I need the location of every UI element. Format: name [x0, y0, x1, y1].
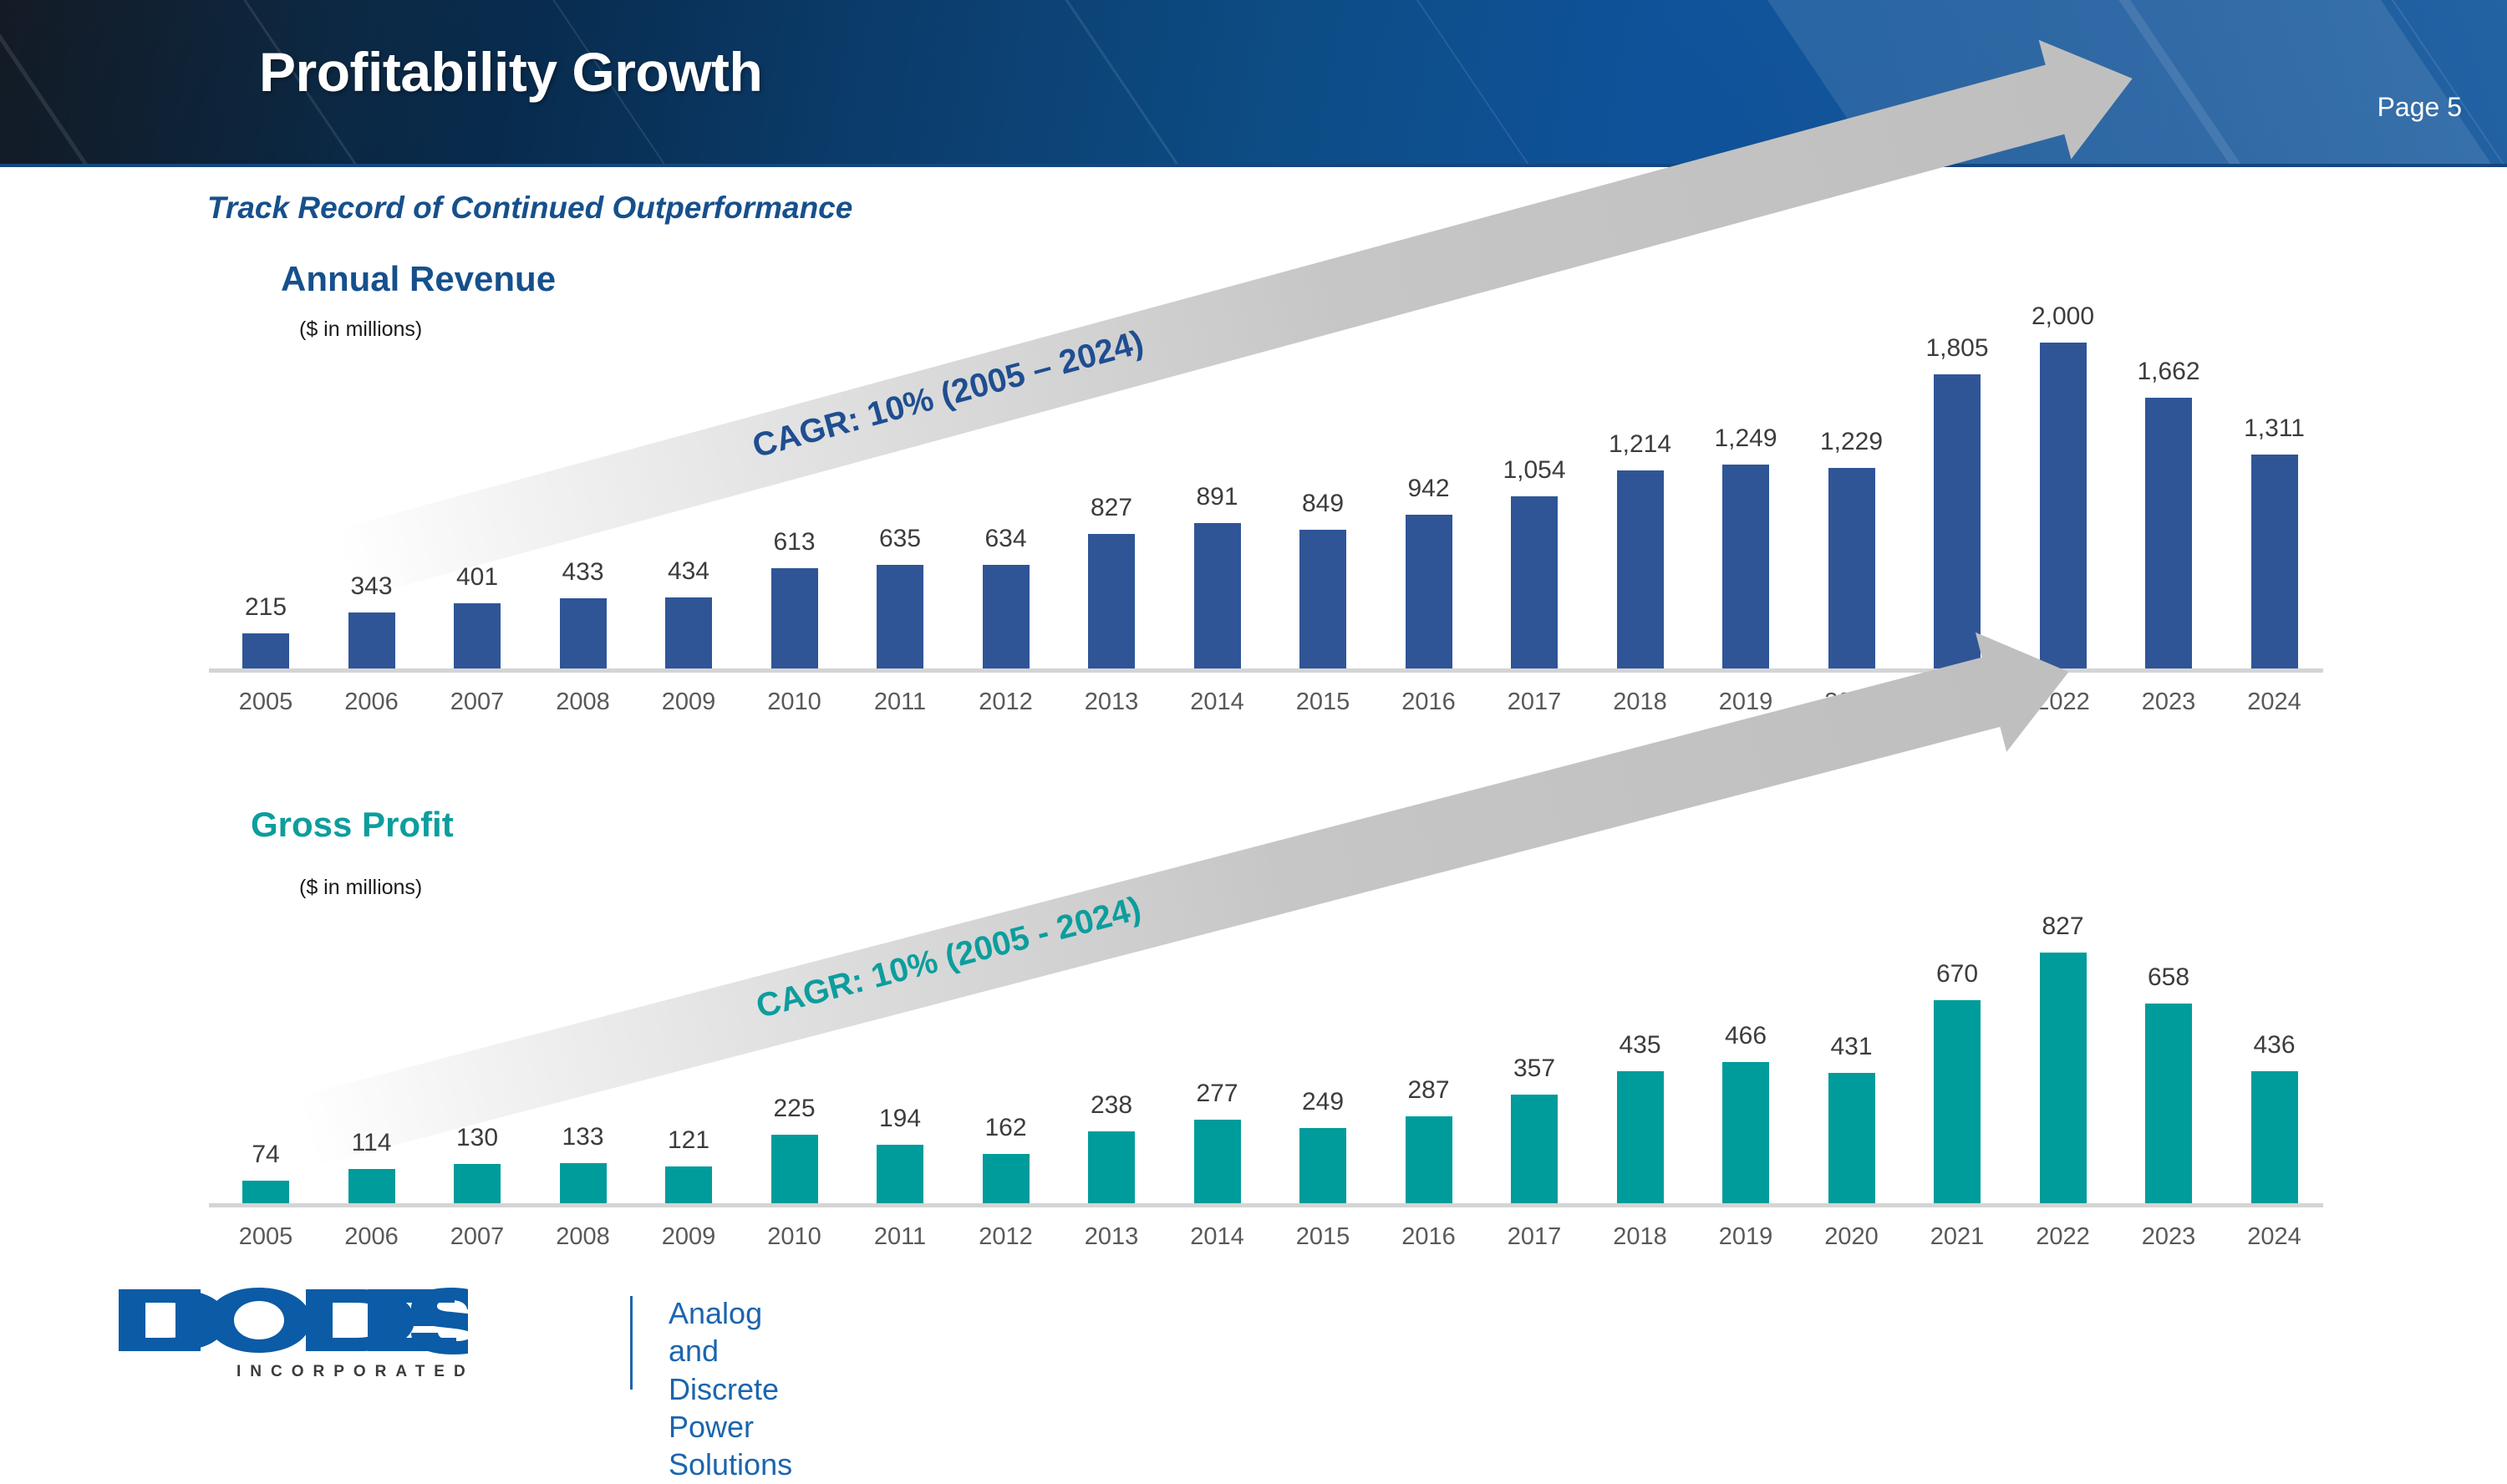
bar-value-label: 827 [1980, 912, 2147, 941]
bar-value-label: 431 [1768, 1033, 1935, 1061]
bar [771, 1135, 818, 1203]
company-tagline: Analog and Discrete Power Solutions [669, 1294, 792, 1484]
bar [1406, 1116, 1452, 1203]
bar-group: 466 [1722, 1062, 1769, 1203]
bar-group: 658 [2145, 1004, 2192, 1203]
bar-group: 827 [2040, 953, 2087, 1203]
bar [665, 1166, 712, 1203]
bar [877, 1145, 923, 1203]
plot-area: 7420051142006130200713320081212009225201… [209, 902, 2398, 1203]
diodes-logo: INCORPORATED Analog and Discrete Power S… [117, 1286, 468, 1351]
bar-group: 435 [1617, 1071, 1664, 1203]
bar-group: 670 [1934, 1000, 1981, 1203]
bar [2145, 1004, 2192, 1203]
bar-group: 114 [348, 1169, 395, 1203]
slide-footer: INCORPORATED Analog and Discrete Power S… [0, 1276, 2507, 1410]
bar-value-label: 121 [605, 1126, 772, 1155]
bar [348, 1169, 395, 1203]
bar-value-label: 436 [2191, 1031, 2358, 1060]
bar-group: 74 [242, 1181, 289, 1203]
bar [560, 1163, 607, 1203]
bar-group: 287 [1406, 1116, 1452, 1203]
diodes-wordmark [117, 1286, 468, 1351]
chart-axis-line [209, 1203, 2323, 1207]
bar-group: 133 [560, 1163, 607, 1203]
bar-group: 357 [1511, 1095, 1558, 1203]
bar [1194, 1120, 1241, 1203]
bar [242, 1181, 289, 1203]
chart-title: Gross Profit [251, 805, 454, 845]
bar-group: 130 [454, 1164, 501, 1203]
bar-group: 162 [983, 1154, 1030, 1203]
diodes-logo-sub: INCORPORATED [236, 1363, 475, 1381]
bar [2040, 953, 2087, 1203]
bar [983, 1154, 1030, 1203]
bar [1934, 1000, 1981, 1203]
tagline-line-2: Power Solutions [669, 1408, 792, 1484]
bar [1828, 1073, 1875, 1203]
bar-group: 238 [1088, 1131, 1135, 1203]
bar-value-label: 658 [2085, 963, 2252, 992]
chart-units: ($ in millions) [299, 876, 422, 900]
bar [1088, 1131, 1135, 1203]
tagline-line-1: Analog and Discrete [669, 1294, 792, 1408]
bar [2251, 1071, 2298, 1203]
x-axis-label: 2024 [2191, 1223, 2358, 1251]
bar-group: 431 [1828, 1073, 1875, 1203]
bar-group: 225 [771, 1135, 818, 1203]
bar-group: 121 [665, 1166, 712, 1203]
bar [454, 1164, 501, 1203]
bar-group: 277 [1194, 1120, 1241, 1203]
bar-value-label: 670 [1874, 960, 2041, 988]
bar-group: 436 [2251, 1071, 2298, 1203]
bar [1617, 1071, 1664, 1203]
chart-gross-profit: Gross Profit ($ in millions) CAGR: 10% (… [0, 0, 2507, 1304]
bar [1722, 1062, 1769, 1203]
logo-divider [630, 1296, 633, 1390]
bar-group: 249 [1299, 1128, 1346, 1203]
bar [1511, 1095, 1558, 1203]
bar-group: 194 [877, 1145, 923, 1203]
bar [1299, 1128, 1346, 1203]
